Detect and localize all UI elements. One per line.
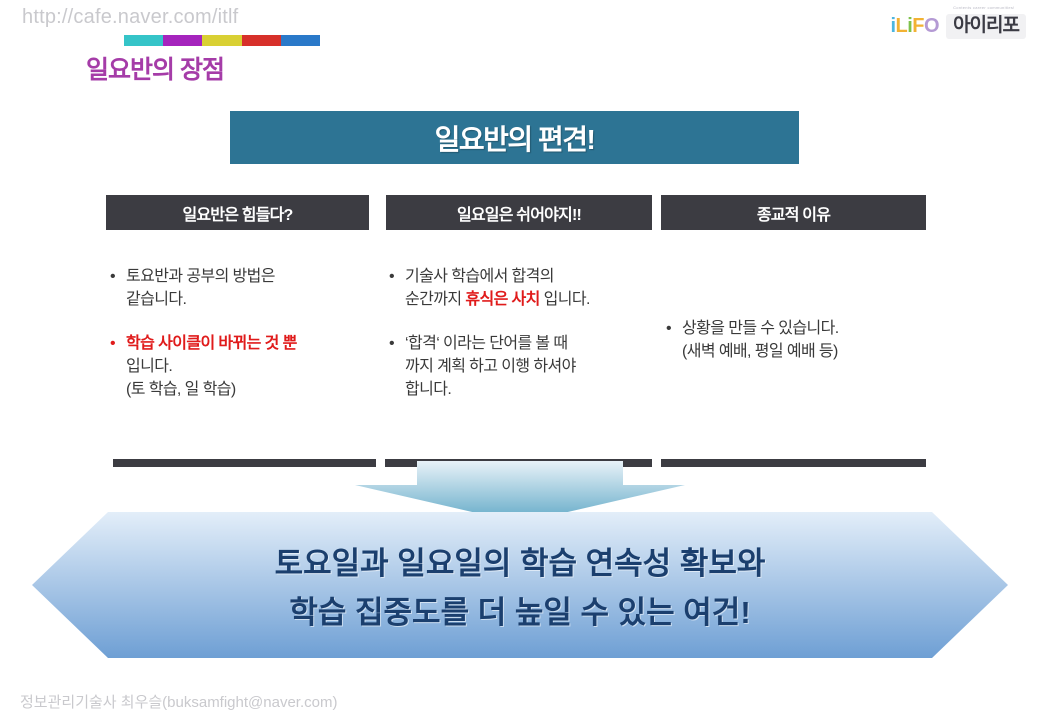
bullet-paragraph: •상황을 만들 수 있습니다.(새벽 예배, 평일 예배 등) [666,318,934,363]
body-text: (토 학습, 일 학습) [126,381,236,398]
column-header-label: 일요일은 쉬어야지!! [457,201,581,225]
logo-letter-F: F [912,16,924,36]
bullet-paragraph: •‘합격‘ 이라는 단어를 볼 때까지 계획 하고 이행 하셔야합니다. [389,333,661,401]
column-header-2: 종교적 이유 [661,195,926,230]
brand-logo: iLiFO Contents career communities! 아이리포 [890,14,1026,39]
body-text: 입니다. [540,291,590,308]
bullet-icon: • [389,266,394,289]
colorbar-segment-purple [163,35,202,46]
logo-letter-L: L [896,16,908,36]
highlight-text: 휴식은 사치 [465,291,539,308]
logo-letter-O: O [924,16,939,36]
decorative-colorbar [124,35,320,46]
logo-korean-name: Contents career communities! 아이리포 [946,14,1026,39]
bullet-line: 입니다. [110,356,378,379]
page-title: 일요반의 장점 [86,50,224,86]
main-banner-text: 일요반의 편견! [435,118,595,158]
bullet-icon: • [110,266,115,289]
slide-canvas: http://cafe.naver.com/itlf iLiFO Content… [0,0,1040,720]
column-header-1: 일요일은 쉬어야지!! [386,195,652,230]
column-body-2: •상황을 만들 수 있습니다.(새벽 예배, 평일 예배 등) [666,318,934,363]
source-url: http://cafe.naver.com/itlf [22,6,238,29]
body-text: 순간까지 [405,291,465,308]
body-text: 상황을 만들 수 있습니다. [682,320,839,337]
bullet-icon: • [666,318,671,341]
bullet-line: ‘합격‘ 이라는 단어를 볼 때 [389,333,661,356]
divider-bar-0 [113,459,376,467]
body-text: 토요반과 공부의 방법은 [126,268,275,285]
main-banner: 일요반의 편견! [230,111,799,164]
body-text: 같습니다. [126,291,186,308]
body-text: 입니다. [126,358,172,375]
bullet-line: 기술사 학습에서 합격의 [389,266,661,289]
colorbar-segment-blue [281,35,320,46]
body-text: 기술사 학습에서 합격의 [405,268,554,285]
colorbar-segment-teal [124,35,163,46]
bullet-paragraph: •기술사 학습에서 합격의순간까지 휴식은 사치 입니다. [389,266,661,311]
bullet-line: 까지 계획 하고 이행 하셔야 [389,356,661,379]
divider-bar-2 [661,459,926,467]
bullet-line: 순간까지 휴식은 사치 입니다. [389,289,661,312]
logo-wordmark: iLiFO [890,16,939,36]
bullet-line: 상황을 만들 수 있습니다. [666,318,934,341]
bullet-line: 합니다. [389,379,661,402]
column-body-0: •토요반과 공부의 방법은같습니다.•학습 사이클이 바뀌는 것 뿐입니다.(토… [110,266,378,402]
body-text: ‘합격‘ 이라는 단어를 볼 때 [405,335,568,352]
body-text: 까지 계획 하고 이행 하셔야 [405,358,576,375]
highlight-text: 학습 사이클이 바뀌는 것 뿐 [126,335,297,352]
logo-tagline: Contents career communities! [953,6,1015,10]
body-text: (새벽 예배, 평일 예배 등) [682,343,838,360]
column-header-0: 일요반은 힘들다? [106,195,369,230]
column-body-1: •기술사 학습에서 합격의순간까지 휴식은 사치 입니다.•‘합격‘ 이라는 단… [389,266,661,402]
bullet-line: 같습니다. [110,289,378,312]
bottom-banner: 토요일과 일요일의 학습 연속성 확보와 학습 집중도를 더 높일 수 있는 여… [32,512,1008,658]
logo-korean-text: 아이리포 [953,15,1019,36]
colorbar-segment-yellow [202,35,241,46]
bullet-icon: • [110,333,115,356]
bullet-icon: • [389,333,394,356]
bullet-line: 학습 사이클이 바뀌는 것 뿐 [110,333,378,356]
bullet-paragraph: •학습 사이클이 바뀌는 것 뿐입니다.(토 학습, 일 학습) [110,333,378,401]
bullet-line: (토 학습, 일 학습) [110,379,378,402]
column-header-label: 일요반은 힘들다? [182,201,292,225]
bullet-line: (새벽 예배, 평일 예배 등) [666,341,934,364]
body-text: 합니다. [405,381,451,398]
bullet-paragraph: •토요반과 공부의 방법은같습니다. [110,266,378,311]
footer-credit: 정보관리기술사 최우슬(buksamfight@naver.com) [20,691,337,712]
colorbar-segment-red [242,35,281,46]
bullet-line: 토요반과 공부의 방법은 [110,266,378,289]
column-header-label: 종교적 이유 [757,201,830,225]
